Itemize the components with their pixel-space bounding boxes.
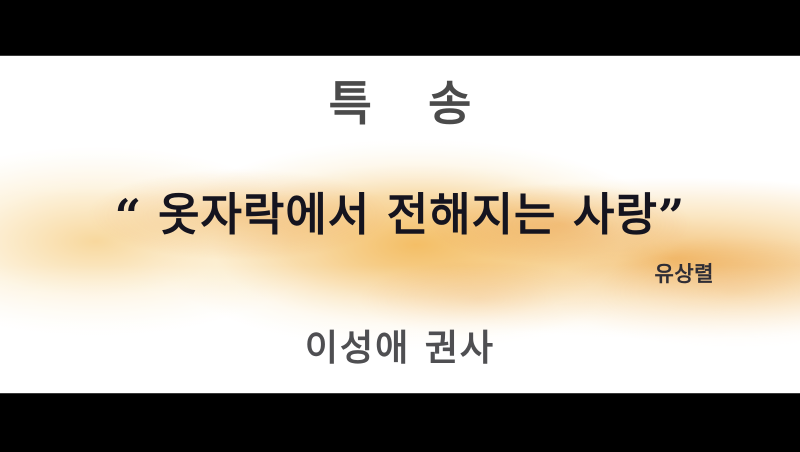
close-quote-mark: ” xyxy=(658,189,685,243)
slide-heading: 특 송 xyxy=(0,81,800,128)
slide-quote-title: “옷자락에서 전해지는 사랑” xyxy=(0,191,800,240)
open-quote-mark: “ xyxy=(115,189,142,243)
letterbox-bar-top xyxy=(0,0,800,55)
slide-content: 특 송 “옷자락에서 전해지는 사랑” 유상렬 이성애 권사 xyxy=(0,55,800,394)
letterbox-bar-bottom xyxy=(0,394,800,452)
slide-performer-name: 이성애 권사 xyxy=(0,319,800,371)
letterbox-seam-bottom xyxy=(0,393,800,394)
slide-author-credit: 유상렬 xyxy=(0,258,800,288)
letterbox-seam-top xyxy=(0,55,800,56)
quote-text: 옷자락에서 전해지는 사랑 xyxy=(158,188,658,241)
presentation-slide: 특 송 “옷자락에서 전해지는 사랑” 유상렬 이성애 권사 xyxy=(0,55,800,394)
video-frame: 특 송 “옷자락에서 전해지는 사랑” 유상렬 이성애 권사 xyxy=(0,0,800,452)
